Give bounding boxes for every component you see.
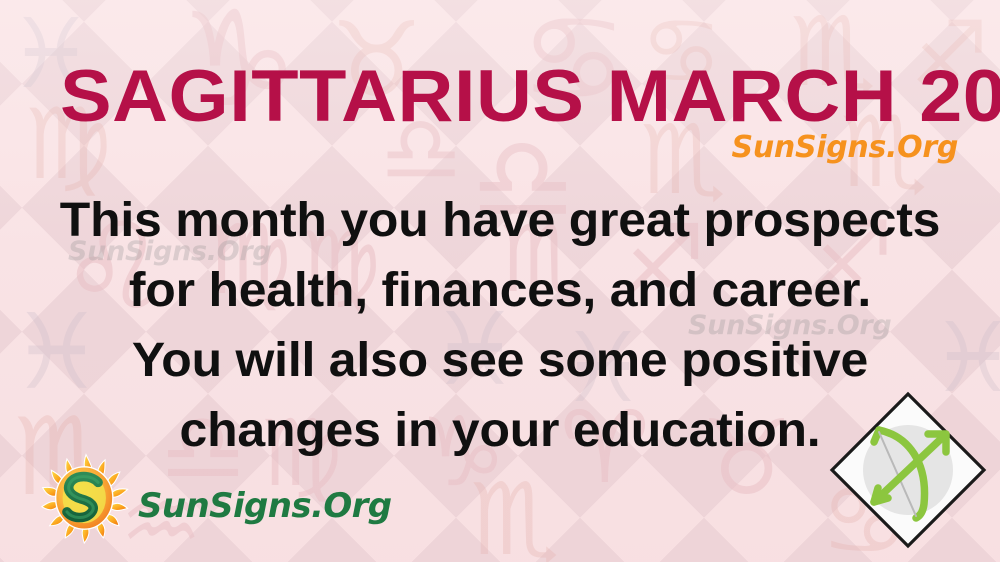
body-line-1: This month you have great prospects [0, 186, 1000, 256]
body-line-2: for health, finances, and career. [0, 256, 1000, 326]
sunsigns-logo-text: SunSigns.Org [138, 486, 392, 526]
horoscope-card: ♓♑♉♋♋♏♐♍♎♎♏♏♌♍♍♏♐♐♓♓♓♓♏♎♍♑♈♉♏♋♒ SAGITTAR… [0, 0, 1000, 562]
page-title: SAGITTARIUS MARCH 2022 [60, 60, 1000, 133]
sunsigns-logo[interactable]: SunSigns.Org [34, 446, 392, 550]
brand-wordmark-top[interactable]: SunSigns.Org [732, 130, 958, 165]
sagittarius-sign-badge[interactable] [824, 386, 992, 554]
sun-logo-icon [34, 446, 138, 550]
